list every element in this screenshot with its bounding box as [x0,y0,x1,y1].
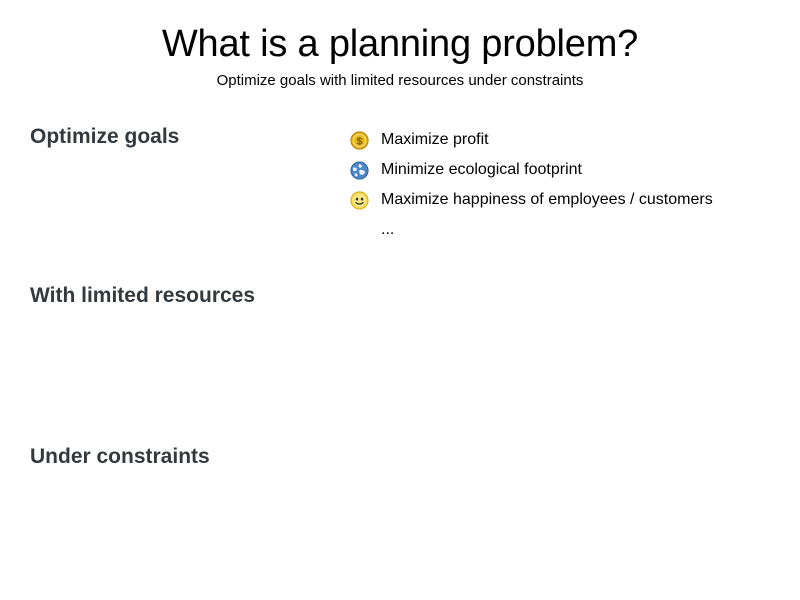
slide-canvas: What is a planning problem? Optimize goa… [0,0,800,600]
section-heading-under-constraints: Under constraints [30,444,210,470]
list-item: Minimize ecological footprint [348,155,788,185]
section-heading-optimize-goals: Optimize goals [30,124,179,150]
goal-bullet-list: $ Maximize profit Minimize ecological fo… [348,125,788,245]
smiley-face-icon [348,189,370,211]
list-item: $ Maximize profit [348,125,788,155]
svg-text:$: $ [356,136,362,147]
list-item: Maximize happiness of employees / custom… [348,185,788,215]
list-item-label: ... [381,220,394,240]
list-item-label: Maximize happiness of employees / custom… [381,190,713,210]
list-item-label: Maximize profit [381,130,489,150]
page-title: What is a planning problem? [0,22,800,66]
list-item: ... [348,215,788,245]
section-heading-limited-resources: With limited resources [30,283,255,309]
list-item-label: Minimize ecological footprint [381,160,582,180]
globe-icon [348,159,370,181]
page-subtitle: Optimize goals with limited resources un… [0,71,800,91]
coin-dollar-icon: $ [348,129,370,151]
